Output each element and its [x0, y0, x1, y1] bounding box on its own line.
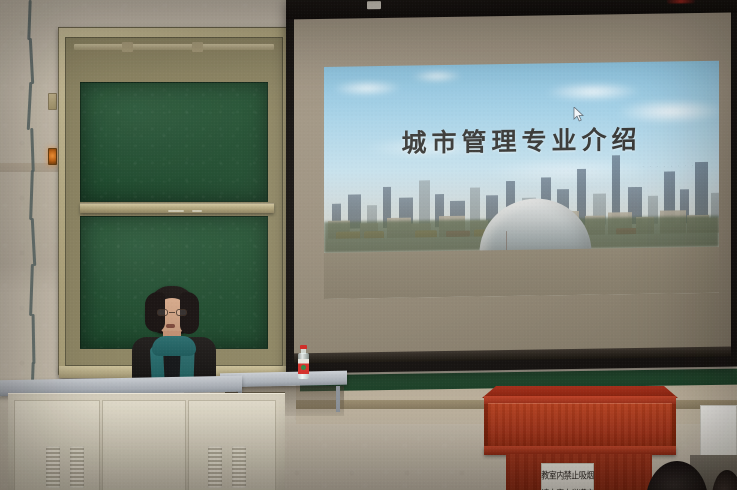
water-bottle[interactable] [298, 345, 309, 379]
screen-status-led [667, 0, 695, 4]
presenter [128, 286, 220, 391]
chalk-piece [192, 210, 202, 212]
vent-louver [46, 446, 60, 488]
screen-housing-tag [367, 1, 381, 9]
vent-louver [232, 446, 246, 488]
chalk-tray [80, 203, 274, 213]
wall-fixture-upper [48, 93, 57, 110]
cloud [411, 69, 463, 82]
projector-screen: 城市管理专业介绍 · · · · · · · · [286, 0, 737, 374]
bottle-cap [300, 345, 307, 349]
no-smoking-notice: 教室内禁止吸烟 请大家自觉遵守 [541, 463, 594, 490]
vent-louver [70, 446, 84, 488]
chalk-piece [168, 210, 184, 212]
rail-bracket [122, 42, 133, 52]
cabinet-door[interactable] [102, 400, 186, 490]
wall-whiteboard-panel [700, 405, 737, 460]
bottle-neck [301, 349, 306, 354]
wall-indicator-light [48, 148, 57, 165]
cloud [332, 80, 402, 97]
chalkboard-upper-panel [80, 82, 268, 202]
projected-slide: 城市管理专业介绍 · · · · · · · · [324, 61, 719, 299]
vent-louver [208, 446, 222, 488]
side-table-leg [336, 386, 340, 412]
rail-bracket [192, 42, 203, 52]
front-desk-cabinet [8, 393, 285, 490]
presenter-mouth [166, 324, 175, 328]
eyeglasses-icon [157, 309, 187, 316]
cloud [545, 81, 641, 103]
notice-line-1: 教室内禁止吸烟 [541, 471, 594, 480]
screen-matte-surface: 城市管理专业介绍 · · · · · · · · [294, 13, 731, 356]
lectern: 教室内禁止吸烟 请大家自觉遵守 [482, 386, 678, 490]
bottle-label [298, 359, 309, 374]
lecture-hall-photo: 城市管理专业介绍 · · · · · · · · [0, 0, 737, 490]
foreground-ground [324, 246, 719, 299]
teal-scarf [152, 336, 196, 356]
chalkboard-slide-rail [74, 44, 274, 50]
lectern-front-face [488, 403, 672, 449]
